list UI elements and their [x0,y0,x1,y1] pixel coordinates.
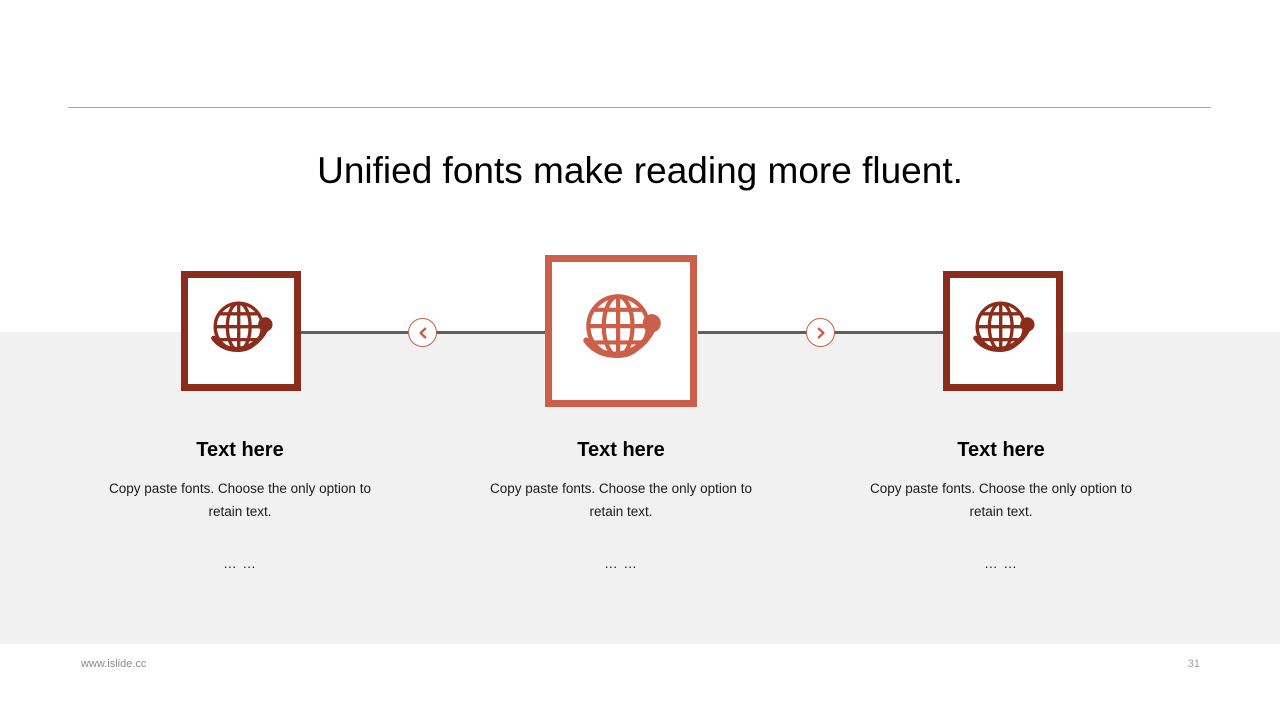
chevron-right-button[interactable] [806,318,835,347]
column-heading: Text here [75,438,405,462]
icon-box-3[interactable] [943,271,1063,391]
column-body: Copy paste fonts. Choose the only option… [95,478,385,524]
column-body: Copy paste fonts. Choose the only option… [476,478,766,524]
chevron-left-button[interactable] [408,318,437,347]
column-2: Text here Copy paste fonts. Choose the o… [456,438,786,571]
slide-canvas: Unified fonts make reading more fluent. [0,0,1280,720]
chevron-left-icon [416,326,430,340]
icon-box-2[interactable] [545,255,697,407]
chevron-right-icon [814,326,828,340]
page-number: 31 [1188,658,1200,670]
column-heading: Text here [456,438,786,462]
footer-url[interactable]: www.islide.cc [81,658,146,670]
globe-orbit-icon [965,291,1041,372]
page-title: Unified fonts make reading more fluent. [0,150,1280,192]
column-ellipsis: … … [75,556,405,571]
column-1: Text here Copy paste fonts. Choose the o… [75,438,405,571]
column-ellipsis: … … [836,556,1166,571]
column-heading: Text here [836,438,1166,462]
column-3: Text here Copy paste fonts. Choose the o… [836,438,1166,571]
globe-orbit-icon [203,291,279,372]
header-divider [68,107,1211,108]
column-body: Copy paste fonts. Choose the only option… [856,478,1146,524]
icon-box-1[interactable] [181,271,301,391]
column-ellipsis: … … [456,556,786,571]
globe-orbit-icon [573,281,669,382]
